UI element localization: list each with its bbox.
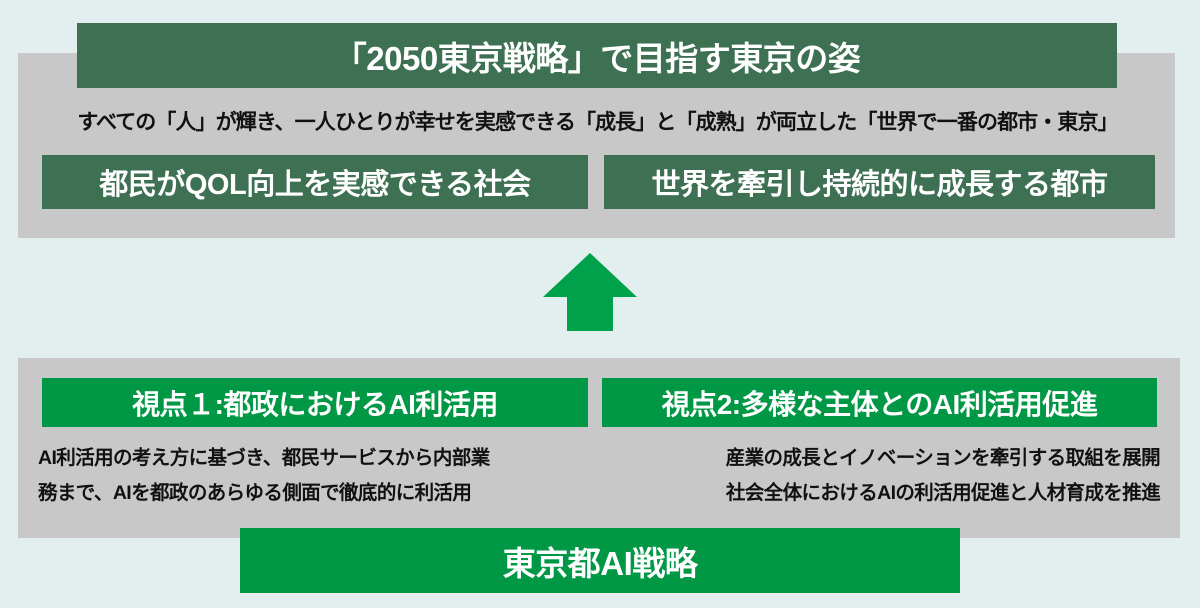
viewpoint-1-body: AI利活用の考え方に基づき、都民サービスから内部業 務まで、AIを都政のあらゆる… [38,441,594,521]
strategy-title-box: 東京都AI戦略 [240,528,960,593]
goal-label: 世界を牽引し持続的に成長する都市 [651,161,1107,203]
body-line: AI利活用の考え方に基づき、都民サービスから内部業 [38,441,594,476]
body-line: 務まで、AIを都政のあらゆる側面で徹底的に利活用 [38,476,594,511]
goal-box-quality-of-life: 都民がQOL向上を実感できる社会 [42,155,588,209]
vision-title-text: 「2050東京戦略」で目指す東京の姿 [334,32,860,80]
viewpoint-2-heading-box: 視点2:多様な主体とのAI利活用促進 [602,378,1157,427]
viewpoint-heading-text: 視点2:多様な主体とのAI利活用促進 [662,383,1098,423]
vision-subtitle-text: すべての「人」が輝き、一人ひとりが幸せを実感できる「成長」と「成熟」が両立した「… [77,106,1117,136]
goal-label: 都民がQOL向上を実感できる社会 [99,161,530,203]
vision-subtitle: すべての「人」が輝き、一人ひとりが幸せを実感できる「成長」と「成熟」が両立した「… [30,104,1165,138]
up-arrow-icon [543,253,637,331]
viewpoint-2-body: 産業の成長とイノベーションを牽引する取組を展開 社会全体におけるAIの利活用促進… [600,441,1160,521]
body-line: 社会全体におけるAIの利活用促進と人材育成を推進 [600,476,1160,511]
body-line: 産業の成長とイノベーションを牽引する取組を展開 [600,441,1160,476]
strategy-title-text: 東京都AI戦略 [503,537,698,585]
vision-title-box: 「2050東京戦略」で目指す東京の姿 [77,23,1117,88]
slide-canvas: 「2050東京戦略」で目指す東京の姿 すべての「人」が輝き、一人ひとりが幸せを実… [0,0,1200,608]
viewpoint-heading-text: 視点１:都政におけるAI利活用 [132,383,498,423]
viewpoint-1-heading-box: 視点１:都政におけるAI利活用 [42,378,588,427]
goal-box-global-growth: 世界を牽引し持続的に成長する都市 [604,155,1155,209]
